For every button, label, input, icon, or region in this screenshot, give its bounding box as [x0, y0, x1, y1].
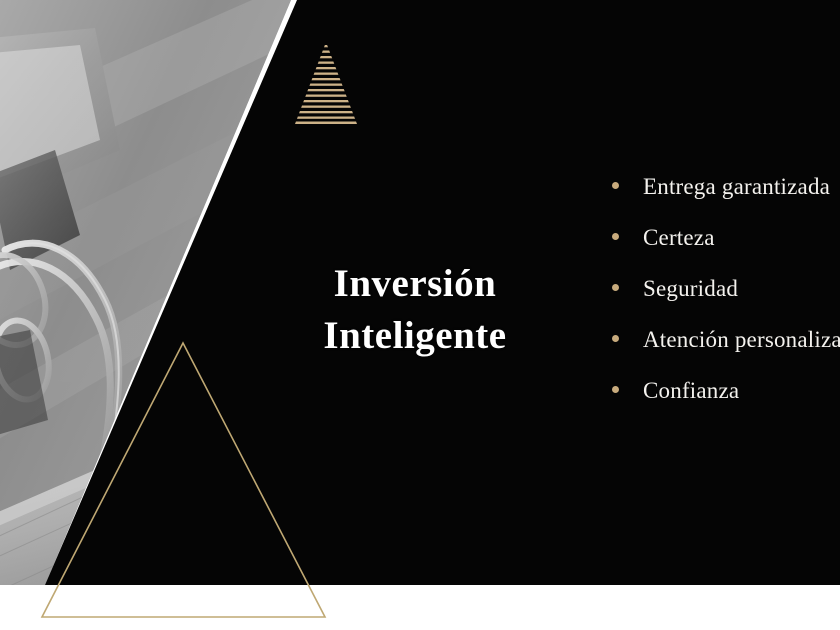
list-item: Seguridad: [612, 276, 840, 327]
list-item: Confianza: [612, 378, 840, 429]
list-item-label: Certeza: [643, 225, 715, 251]
list-item: Certeza: [612, 225, 840, 276]
page-title-line-1: Inversión: [255, 258, 575, 310]
list-item: Entrega garantizada: [612, 174, 840, 225]
bullet-dot-icon: [612, 335, 619, 342]
list-item-label: Entrega garantizada: [643, 174, 830, 200]
bottom-white-band: [0, 585, 840, 630]
striped-pyramid-logo-icon: [295, 42, 357, 124]
page-title-line-2: Inteligente: [255, 310, 575, 362]
bullet-dot-icon: [612, 233, 619, 240]
bullet-dot-icon: [612, 284, 619, 291]
list-item: Atención personalizada: [612, 327, 840, 378]
benefits-list: Entrega garantizada Certeza Seguridad At…: [612, 174, 840, 429]
list-item-label: Seguridad: [643, 276, 738, 302]
list-item-label: Atención personalizada: [643, 327, 840, 353]
page-title: Inversión Inteligente: [255, 258, 575, 362]
slide-canvas: Inversión Inteligente Entrega garantizad…: [0, 0, 840, 630]
list-item-label: Confianza: [643, 378, 739, 404]
bullet-dot-icon: [612, 182, 619, 189]
bullet-dot-icon: [612, 386, 619, 393]
